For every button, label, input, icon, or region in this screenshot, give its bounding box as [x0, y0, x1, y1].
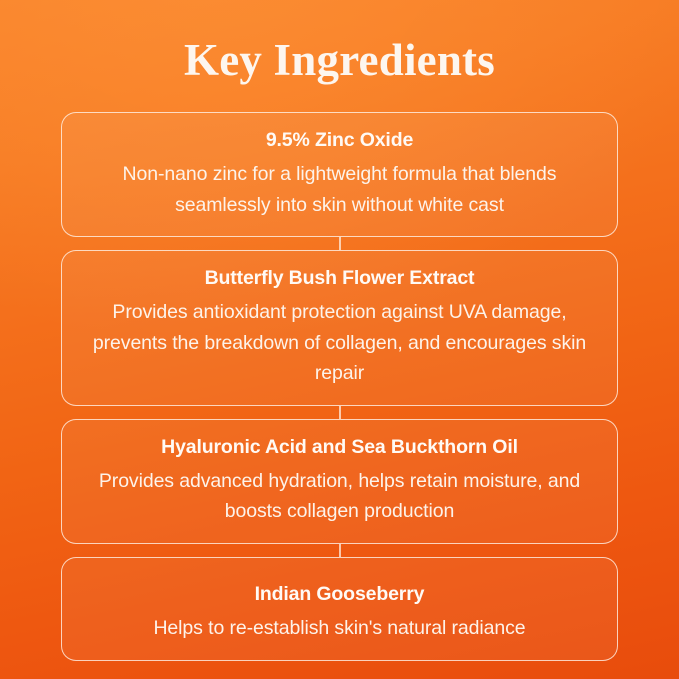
card-connector-line-2: [339, 406, 341, 419]
ingredient-card-body: Provides antioxidant protection against …: [88, 297, 591, 389]
ingredient-card-title: Indian Gooseberry: [88, 580, 591, 609]
card-connector-line-1: [339, 237, 341, 250]
ingredient-card-butterfly-bush-flower-extract[interactable]: Butterfly Bush Flower Extract Provides a…: [61, 250, 618, 406]
ingredient-card-wrapper-2: Butterfly Bush Flower Extract Provides a…: [61, 250, 618, 406]
ingredient-card-indian-gooseberry[interactable]: Indian Gooseberry Helps to re-establish …: [61, 557, 618, 661]
ingredient-card-list: 9.5% Zinc Oxide Non-nano zinc for a ligh…: [61, 112, 618, 661]
ingredient-card-zinc-oxide[interactable]: 9.5% Zinc Oxide Non-nano zinc for a ligh…: [61, 112, 618, 237]
ingredient-card-wrapper-4: Indian Gooseberry Helps to re-establish …: [61, 557, 618, 661]
ingredient-card-title: Butterfly Bush Flower Extract: [88, 264, 591, 293]
ingredient-card-title: Hyaluronic Acid and Sea Buckthorn Oil: [88, 433, 591, 462]
ingredient-card-body: Non-nano zinc for a lightweight formula …: [88, 159, 591, 220]
ingredient-card-hyaluronic-acid-sea-buckthorn-oil[interactable]: Hyaluronic Acid and Sea Buckthorn Oil Pr…: [61, 419, 618, 544]
ingredient-card-body: Provides advanced hydration, helps retai…: [88, 466, 591, 527]
card-connector-line-3: [339, 544, 341, 557]
ingredient-card-wrapper-1: 9.5% Zinc Oxide Non-nano zinc for a ligh…: [61, 112, 618, 237]
page-title: Key Ingredients: [0, 34, 679, 86]
ingredient-card-body: Helps to re-establish skin's natural rad…: [88, 613, 591, 644]
key-ingredients-poster: Key Ingredients 9.5% Zinc Oxide Non-nano…: [0, 0, 679, 679]
ingredient-card-title: 9.5% Zinc Oxide: [88, 126, 591, 155]
ingredient-card-wrapper-3: Hyaluronic Acid and Sea Buckthorn Oil Pr…: [61, 419, 618, 544]
